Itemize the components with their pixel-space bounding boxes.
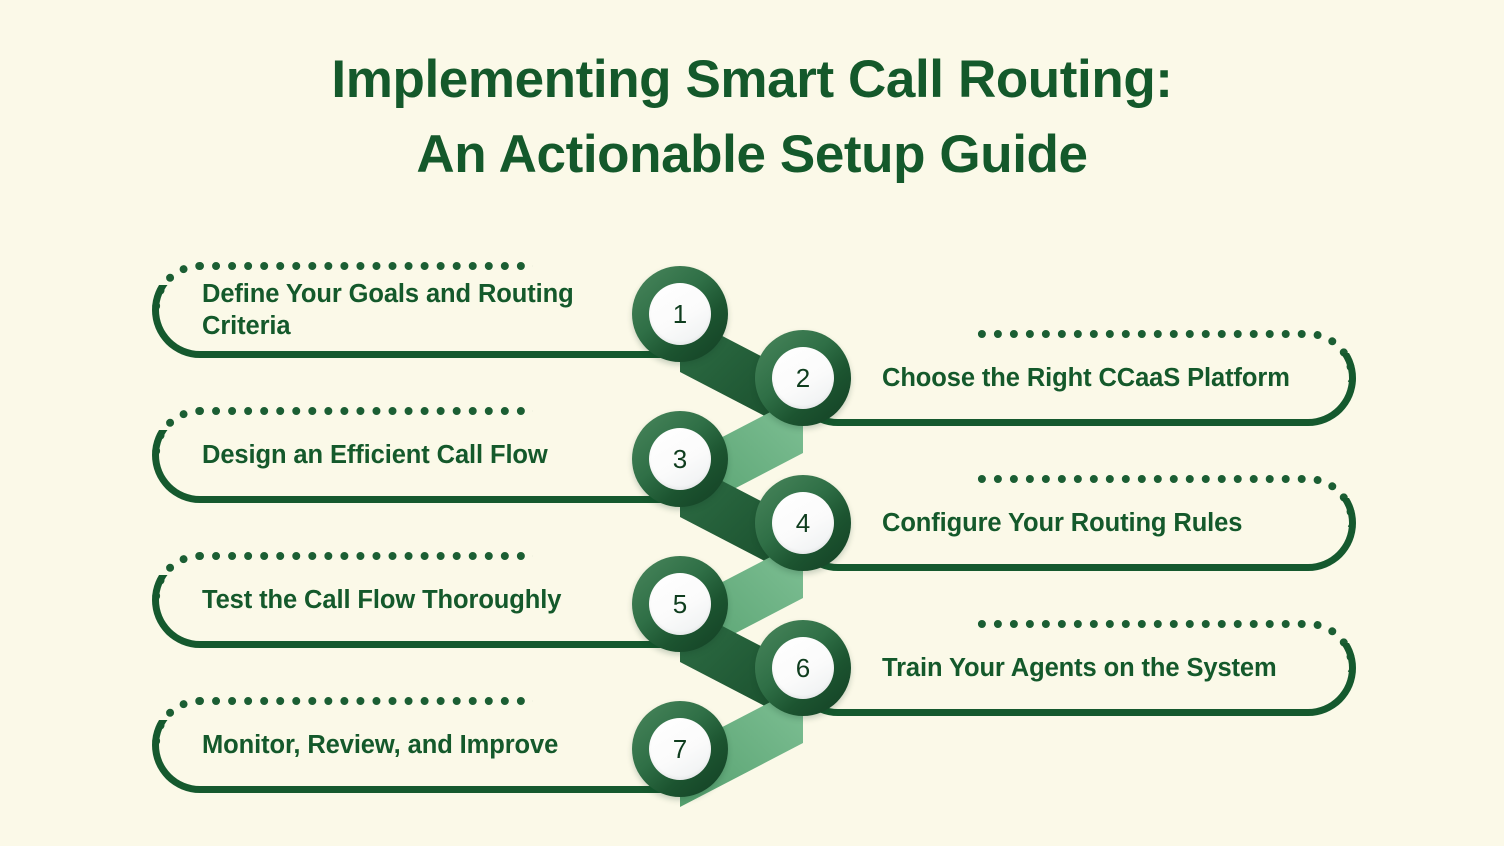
step-row-3[interactable]: Design an Efficient Call Flow [152,407,712,503]
step-number-1: 1 [673,301,687,327]
step-number-5: 5 [673,591,687,617]
step-badge-inner-4: 4 [772,492,834,554]
step-row-4[interactable]: Configure Your Routing Rules [790,475,1356,571]
step-badge-6[interactable]: 6 [755,620,851,716]
step-label-6: Train Your Agents on the System [882,652,1296,684]
step-badge-inner-3: 3 [649,428,711,490]
step-number-3: 3 [673,446,687,472]
infographic-canvas: Implementing Smart Call Routing: An Acti… [0,0,1504,846]
step-number-4: 4 [796,510,810,536]
step-label-7: Monitor, Review, and Improve [202,729,604,761]
step-badge-4[interactable]: 4 [755,475,851,571]
page-title: Implementing Smart Call Routing: An Acti… [0,42,1504,193]
step-label-3: Design an Efficient Call Flow [202,439,604,471]
step-row-6[interactable]: Train Your Agents on the System [790,620,1356,716]
step-row-5[interactable]: Test the Call Flow Thoroughly [152,552,712,648]
step-badge-inner-7: 7 [649,718,711,780]
step-number-6: 6 [796,655,810,681]
title-line-2: An Actionable Setup Guide [0,117,1504,192]
step-label-4: Configure Your Routing Rules [882,507,1296,539]
step-badge-inner-2: 2 [772,347,834,409]
step-badge-inner-1: 1 [649,283,711,345]
step-row-1[interactable]: Define Your Goals and Routing Criteria [152,262,712,358]
step-badge-inner-5: 5 [649,573,711,635]
step-badge-inner-6: 6 [772,637,834,699]
step-badge-5[interactable]: 5 [632,556,728,652]
step-label-2: Choose the Right CCaaS Platform [882,362,1296,394]
step-label-1: Define Your Goals and Routing Criteria [202,278,604,342]
step-badge-2[interactable]: 2 [755,330,851,426]
title-line-1: Implementing Smart Call Routing: [0,42,1504,117]
step-number-2: 2 [796,365,810,391]
step-badge-7[interactable]: 7 [632,701,728,797]
step-badge-3[interactable]: 3 [632,411,728,507]
step-label-5: Test the Call Flow Thoroughly [202,584,604,616]
steps-diagram: Define Your Goals and Routing Criteria C… [0,254,1504,814]
step-row-7[interactable]: Monitor, Review, and Improve [152,697,712,793]
step-row-2[interactable]: Choose the Right CCaaS Platform [790,330,1356,426]
step-number-7: 7 [673,736,687,762]
step-badge-1[interactable]: 1 [632,266,728,362]
